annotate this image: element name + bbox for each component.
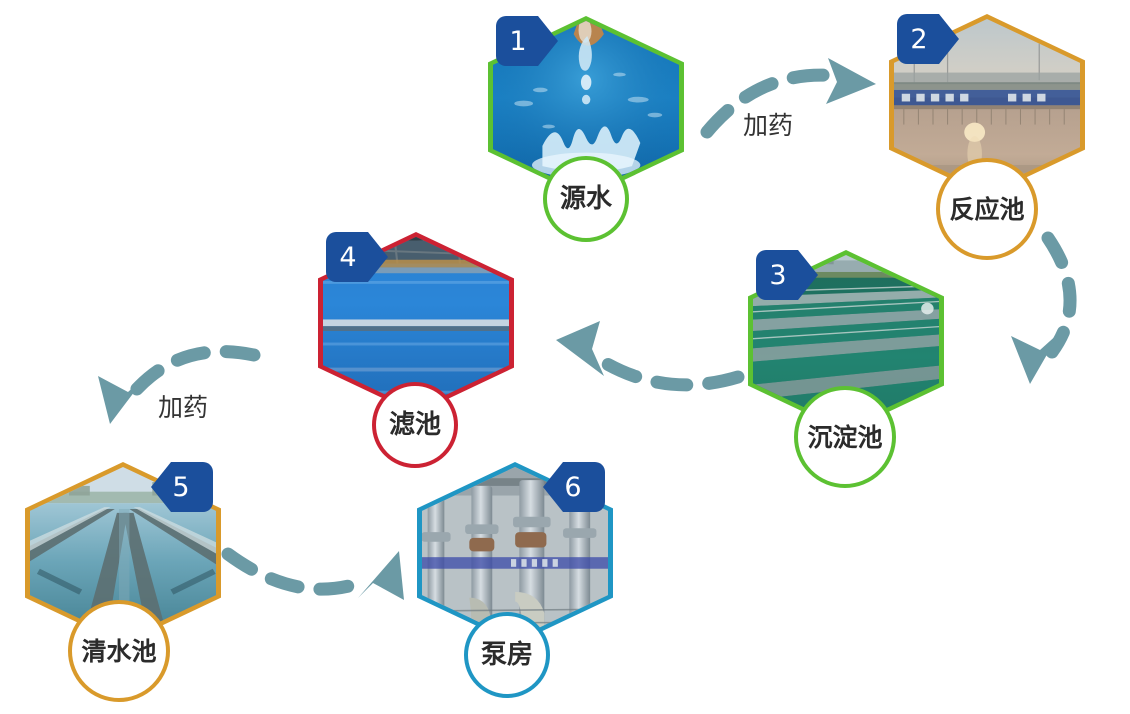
process-flow-diagram: 1 源水 — [0, 0, 1130, 714]
node-label-circle-2: 反应池 — [936, 158, 1038, 260]
node-label-circle-1: 源水 — [543, 156, 629, 242]
process-node-3[interactable]: 3 沉淀池 — [748, 250, 944, 475]
node-label-1: 源水 — [560, 186, 612, 212]
step-badge-4: 4 — [326, 232, 388, 282]
process-node-4[interactable]: 4 滤池 — [318, 232, 514, 457]
process-node-2[interactable]: 2 反应池 — [889, 14, 1085, 239]
step-badge-5: 5 — [151, 462, 213, 512]
step-badge-6: 6 — [543, 462, 605, 512]
node-label-circle-3: 沉淀池 — [794, 386, 896, 488]
node-label-circle-5: 清水池 — [68, 600, 170, 702]
arrow-reaction-to-sedimentation — [1011, 238, 1070, 384]
node-label-4: 滤池 — [389, 412, 441, 438]
arrow-clearwater-to-pumphouse — [228, 551, 404, 600]
node-label-circle-6: 泵房 — [464, 612, 550, 698]
process-node-6[interactable]: 6 泵房 — [417, 462, 613, 687]
dosing-label-2: 加药 — [158, 388, 208, 424]
node-label-2: 反应池 — [949, 197, 1024, 222]
step-badge-3: 3 — [756, 250, 818, 300]
step-badge-1: 1 — [496, 16, 558, 66]
node-label-5: 清水池 — [81, 639, 156, 664]
node-label-3: 沉淀池 — [807, 425, 882, 450]
step-number-6: 6 — [551, 462, 595, 512]
dosing-label-1: 加药 — [743, 106, 793, 142]
node-label-circle-4: 滤池 — [372, 382, 458, 468]
step-number-4: 4 — [326, 232, 370, 282]
step-number-3: 3 — [756, 250, 800, 300]
arrow-sedimentation-to-filter — [556, 321, 738, 385]
step-number-2: 2 — [897, 14, 941, 64]
process-node-1[interactable]: 1 源水 — [488, 16, 684, 241]
step-badge-2: 2 — [897, 14, 959, 64]
process-node-5[interactable]: 5 清水池 — [25, 462, 221, 687]
step-number-5: 5 — [159, 462, 203, 512]
node-label-6: 泵房 — [481, 642, 533, 668]
step-number-1: 1 — [496, 16, 540, 66]
